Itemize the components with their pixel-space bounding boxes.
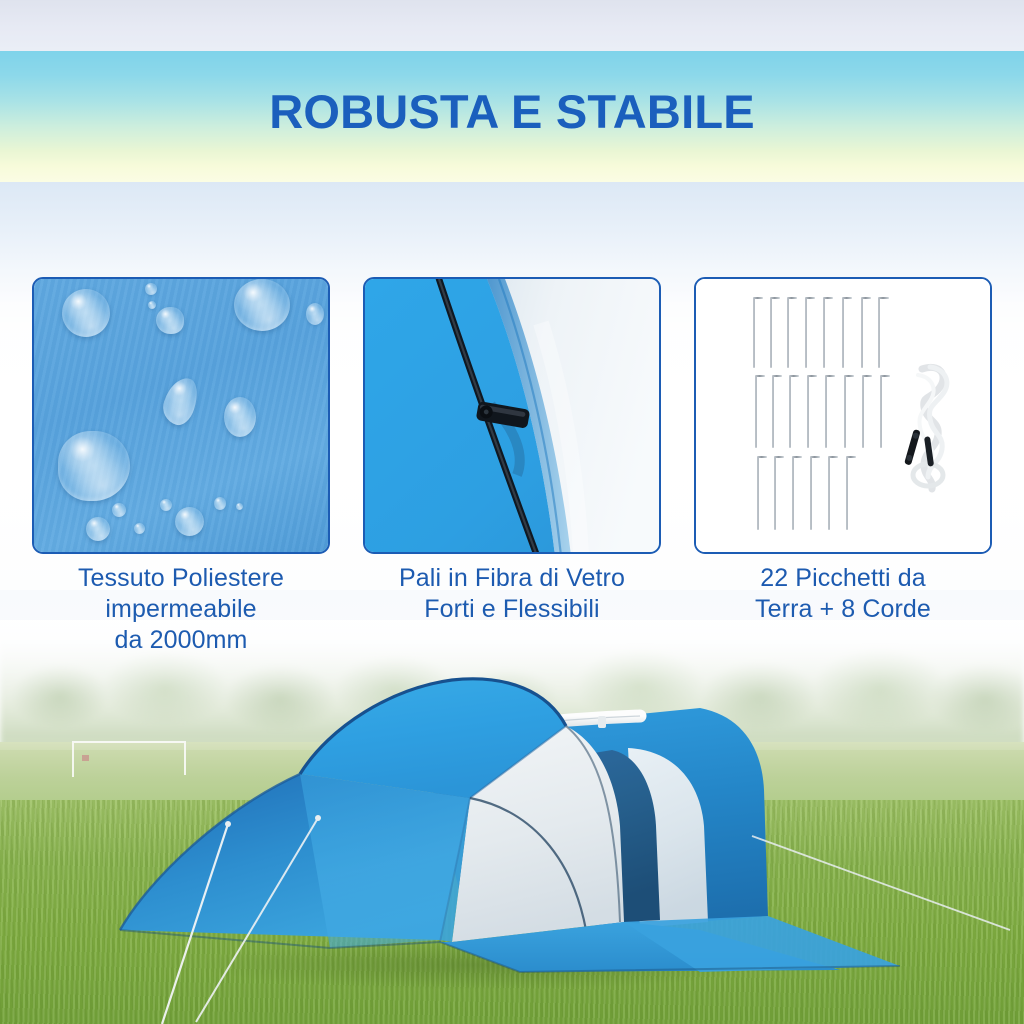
- water-droplet: [145, 283, 157, 295]
- feature-panel-fiberglass-poles: [363, 277, 661, 554]
- guy-line-right: [752, 836, 1010, 930]
- water-droplet: [156, 307, 184, 334]
- water-droplet: [175, 507, 204, 536]
- water-droplet: [112, 503, 126, 517]
- water-droplet: [58, 431, 130, 501]
- caption-line: 22 Picchetti da: [688, 563, 998, 594]
- feature-captions: Tessuto Poliestere impermeabile da 2000m…: [32, 563, 992, 656]
- caption-waterproof-fabric: Tessuto Poliestere impermeabile da 2000m…: [26, 563, 336, 656]
- water-droplet: [224, 397, 256, 437]
- water-droplet: [214, 497, 226, 510]
- water-droplet: [86, 517, 110, 541]
- caption-stakes-ropes: 22 Picchetti da Terra + 8 Corde: [688, 563, 998, 656]
- guy-line-anchor-left: [225, 821, 231, 827]
- caption-line: Pali in Fibra di Vetro: [357, 563, 667, 594]
- water-droplet: [160, 499, 172, 511]
- caption-fiberglass-poles: Pali in Fibra di Vetro Forti e Flessibil…: [357, 563, 667, 656]
- page-title: ROBUSTA E STABILE: [0, 84, 1024, 140]
- water-droplet: [62, 289, 110, 337]
- banner-sky-strip: [0, 0, 1024, 51]
- water-droplet: [148, 301, 156, 309]
- feature-panels: [32, 277, 992, 554]
- product-feature-image: Outsunny ROBUSTA E STABILE: [0, 0, 1024, 1024]
- caption-line: Terra + 8 Corde: [688, 594, 998, 625]
- stakes-and-ropes-photo: [696, 279, 990, 552]
- caption-line: Forti e Flessibili: [357, 594, 667, 625]
- tent-pole-closeup: [365, 279, 659, 552]
- tent-product-photo: Outsunny: [0, 630, 1024, 1024]
- caption-line: Tessuto Poliestere: [26, 563, 336, 594]
- water-droplet: [306, 303, 324, 325]
- caption-line: da 2000mm: [26, 625, 336, 656]
- water-droplet: [234, 279, 290, 331]
- feature-panel-waterproof-fabric: [32, 277, 330, 554]
- caption-line: impermeabile: [26, 594, 336, 625]
- water-droplet: [236, 503, 243, 510]
- water-droplet: [134, 523, 145, 534]
- feature-panel-stakes-ropes: [694, 277, 992, 554]
- guy-line-anchor-left-2: [315, 815, 321, 821]
